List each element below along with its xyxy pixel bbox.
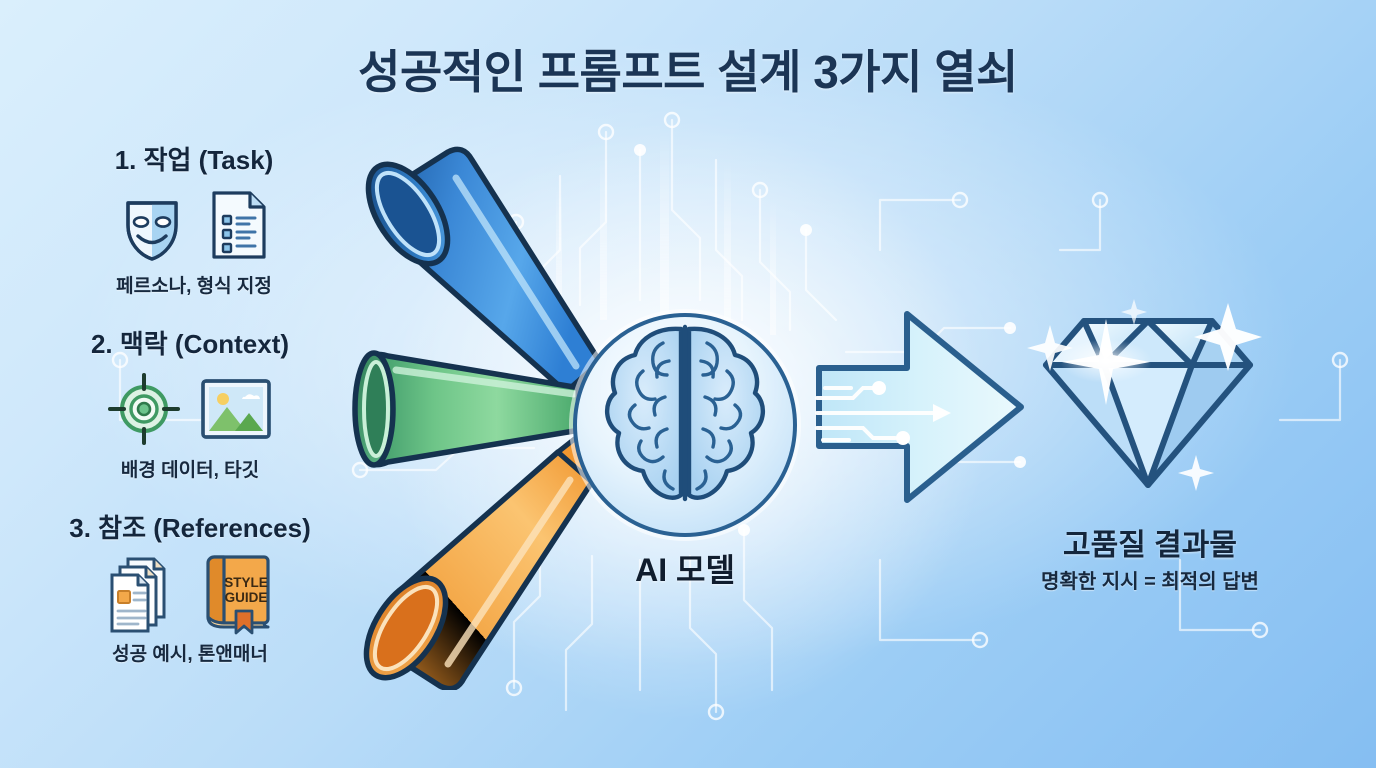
key-heading-task: 1. 작업 (Task) (8, 140, 380, 177)
keys-column: 1. 작업 (Task) (0, 140, 380, 692)
key-block-references: 3. 참조 (References) STYLE G (0, 508, 380, 666)
page-title: 성공적인 프롬프트 설계 3가지 열쇠 (0, 36, 1376, 102)
key-caption-references: 성공 예시, 톤앤매너 (0, 639, 380, 666)
key-heading-references: 3. 참조 (References) (0, 508, 380, 545)
ai-model-core (565, 305, 805, 545)
book-line-2: GUIDE (225, 590, 268, 605)
result-heading: 고품질 결과물 (985, 520, 1315, 564)
key-icons-references: STYLE GUIDE (0, 553, 380, 633)
key-caption-task: 페르소나, 형식 지정 (8, 271, 380, 298)
target-crosshair-icon (107, 372, 181, 446)
key-block-task: 1. 작업 (Task) (0, 140, 380, 298)
result-gem (1010, 285, 1285, 525)
book-line-1: STYLE (224, 575, 268, 590)
result-subtitle: 명확한 지시 = 최적의 답변 (975, 565, 1325, 594)
ai-model-label: AI 모델 (565, 545, 805, 591)
right-arrow-icon (819, 314, 1021, 500)
key-heading-context: 2. 맥락 (Context) (0, 324, 380, 361)
style-guide-book-icon: STYLE GUIDE (202, 551, 276, 635)
document-checklist-icon (206, 188, 272, 262)
key-block-context: 2. 맥락 (Context) 배경 데이터, 타 (0, 324, 380, 482)
key-icons-task (8, 185, 380, 265)
output-arrow (815, 300, 1030, 515)
document-stack-icon (104, 553, 184, 633)
theater-mask-icon (116, 189, 188, 261)
photo-image-icon (199, 377, 273, 441)
key-caption-context: 배경 데이터, 타깃 (0, 455, 380, 482)
key-icons-context (0, 369, 380, 449)
